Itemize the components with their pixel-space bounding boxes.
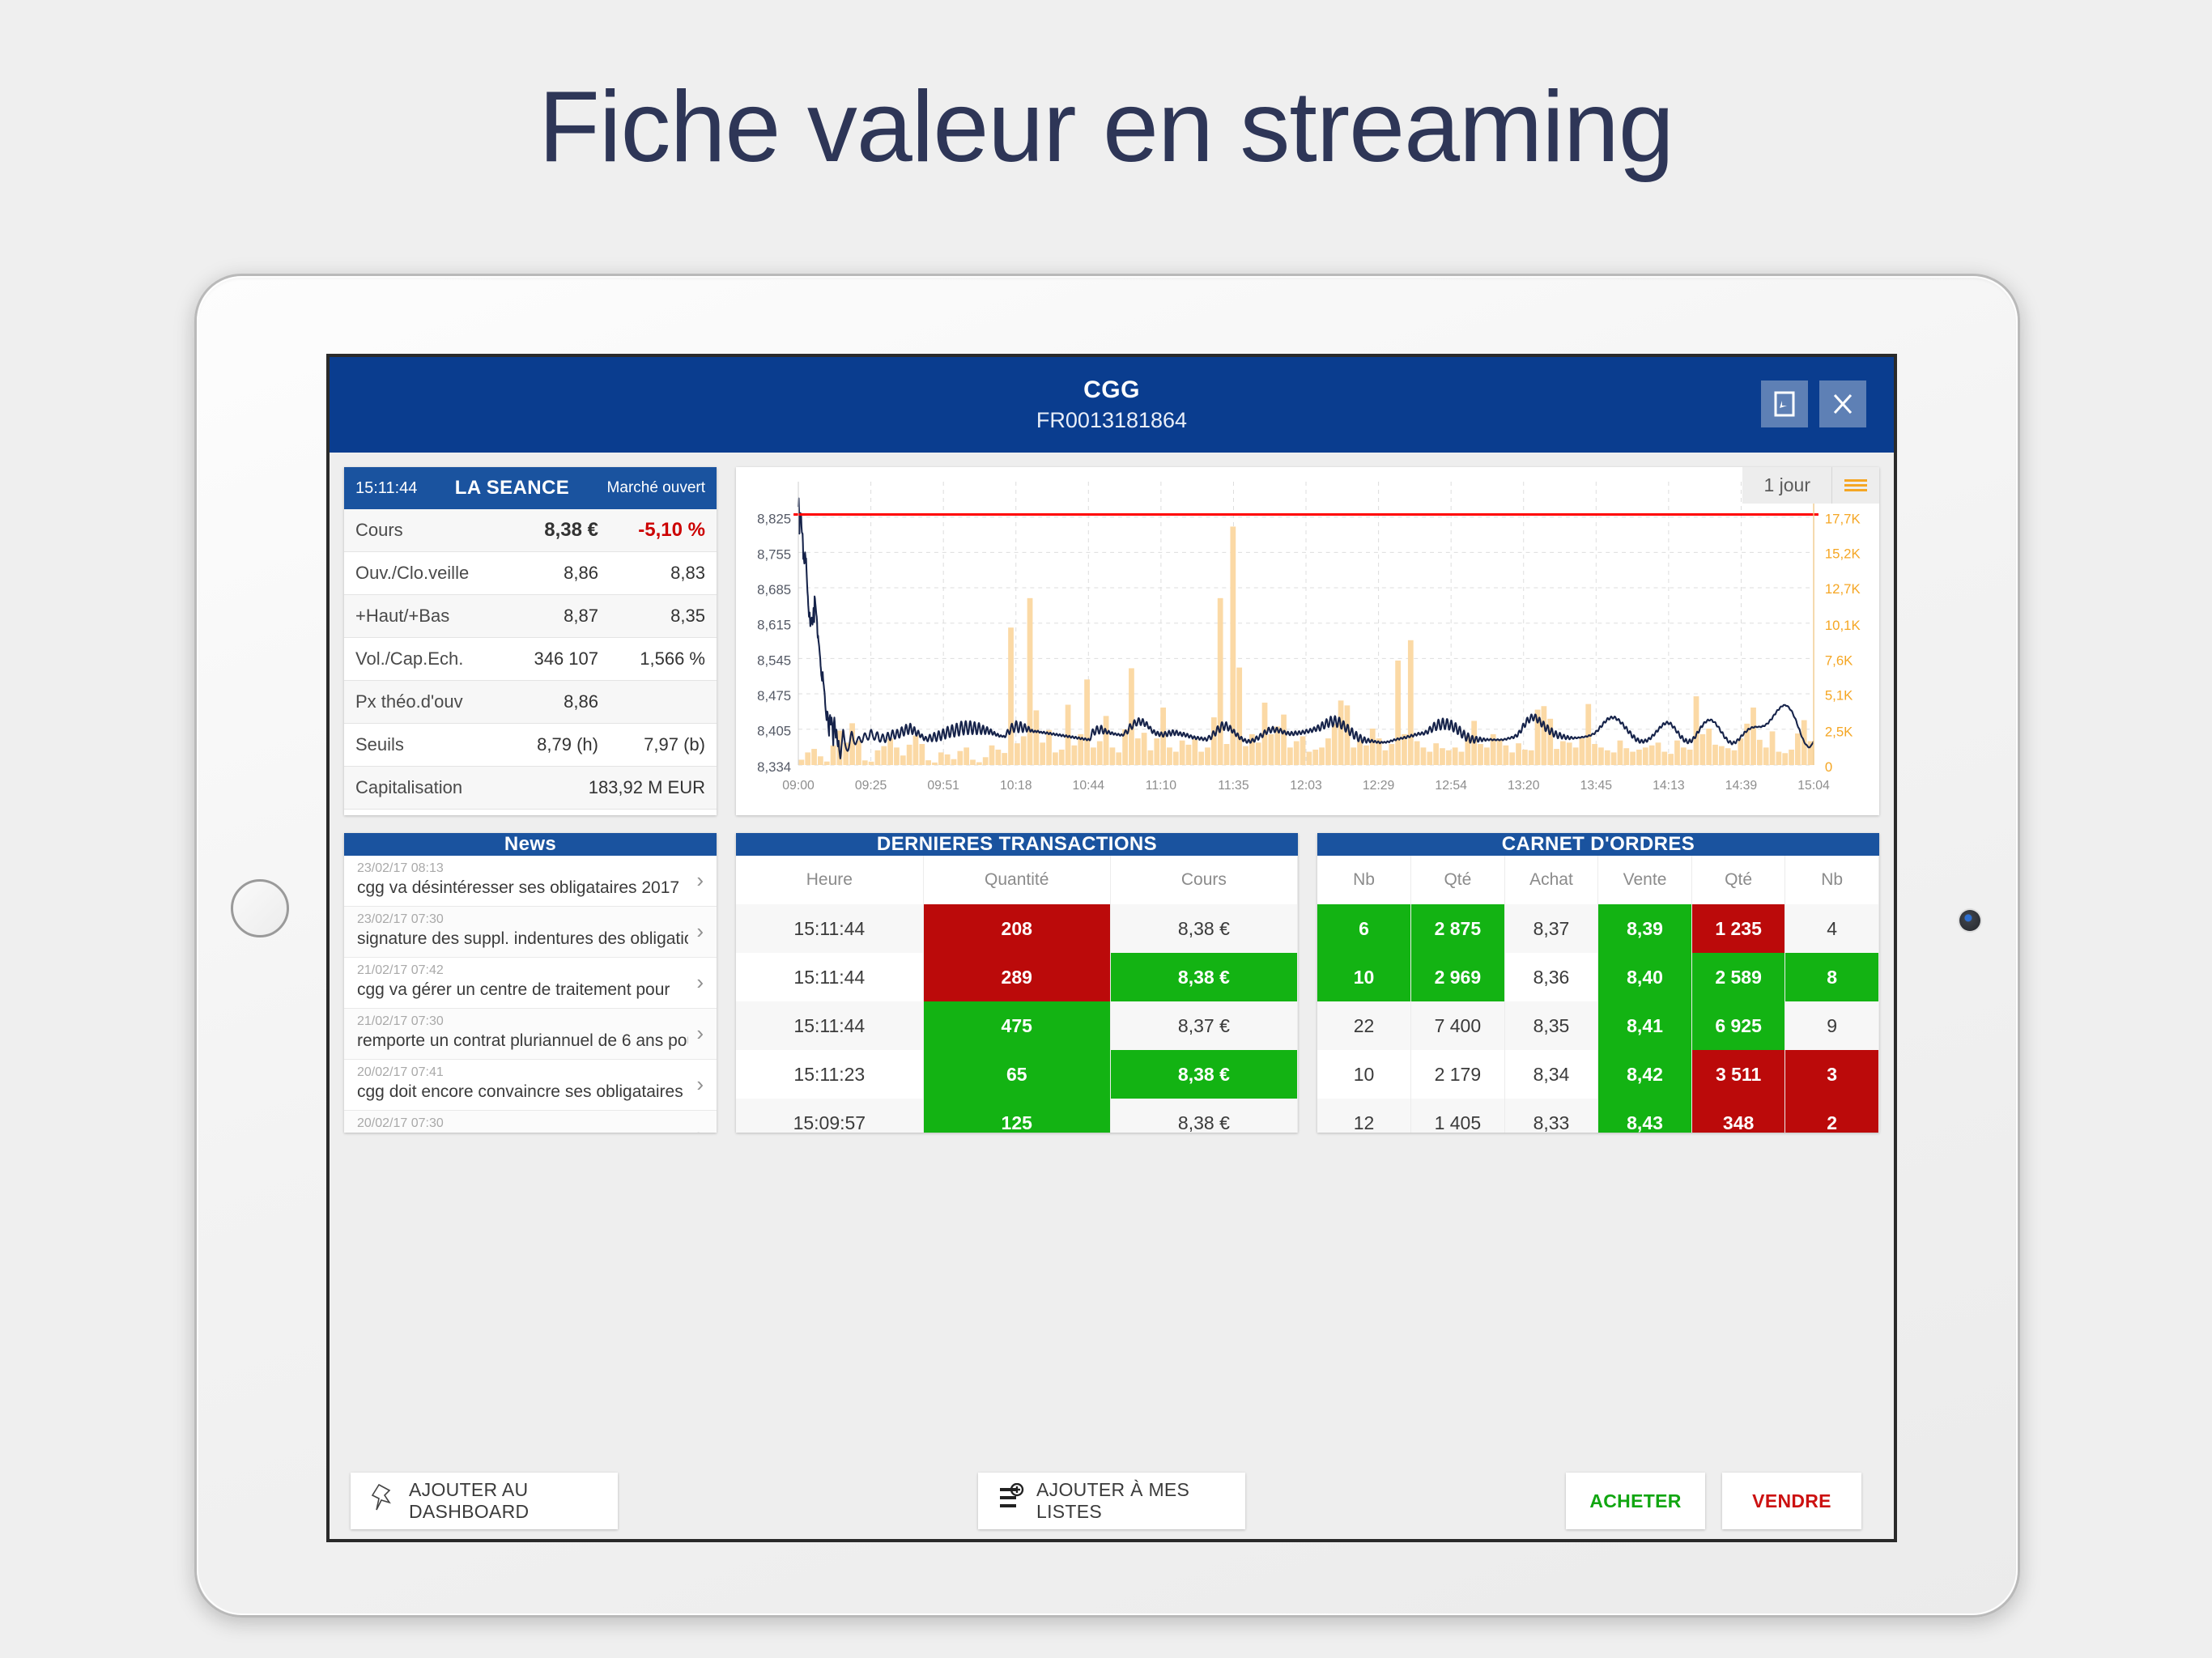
- svg-text:8,405: 8,405: [757, 724, 791, 739]
- svg-text:15,2K: 15,2K: [1825, 546, 1861, 562]
- news-item-date: 23/02/17 08:13: [357, 861, 688, 877]
- action-bar: AJOUTER AU DASHBOARD AJOUTER À ME: [344, 1473, 1879, 1529]
- table-cell: 10: [1317, 1050, 1411, 1099]
- news-item-texts: 20/02/17 07:30Cgg annonce avoir reCu l'a…: [357, 1116, 688, 1133]
- chevron-right-icon[interactable]: ›: [696, 868, 704, 893]
- table-cell: 4: [1785, 904, 1879, 953]
- transactions-column-header: Quantité: [923, 856, 1110, 904]
- chart-range-selector[interactable]: 1 jour: [1742, 467, 1832, 504]
- table-cell: 8: [1785, 953, 1879, 1001]
- svg-text:11:10: 11:10: [1146, 779, 1176, 793]
- table-cell: 12: [1317, 1099, 1411, 1133]
- window-content: 15:11:44 LA SEANCE Marché ouvert Cours8,…: [330, 453, 1894, 1542]
- svg-text:09:25: 09:25: [855, 779, 887, 793]
- svg-text:14:39: 14:39: [1725, 779, 1758, 793]
- svg-text:12:29: 12:29: [1363, 779, 1395, 793]
- orderbook-column-header: Qté: [1411, 856, 1505, 904]
- orderbook-column-header: Nb: [1317, 856, 1411, 904]
- seance-row-label: Px théo.d'ouv: [355, 691, 485, 712]
- table-row: 15:09:571258,38 €: [736, 1099, 1298, 1133]
- news-item-texts: 23/02/17 07:30signature des suppl. inden…: [357, 912, 688, 950]
- seance-panel: 15:11:44 LA SEANCE Marché ouvert Cours8,…: [344, 467, 717, 815]
- table-cell: 1 235: [1691, 904, 1785, 953]
- table-cell: 7 400: [1411, 1001, 1505, 1050]
- news-header: News: [344, 833, 717, 856]
- orderbook-column-header: Achat: [1504, 856, 1598, 904]
- orderbook-header: CARNET D'ORDRES: [1317, 833, 1879, 856]
- news-item-texts: 20/02/17 07:41cgg doit encore convaincre…: [357, 1065, 688, 1103]
- orderbook-body: 62 8758,378,391 2354102 9698,368,402 589…: [1317, 904, 1879, 1133]
- window-title: CGG: [1036, 376, 1187, 404]
- table-cell: 2 875: [1411, 904, 1505, 953]
- table-cell: 8,40: [1598, 953, 1692, 1001]
- news-item[interactable]: 21/02/17 07:30remporte un contrat pluria…: [344, 1009, 717, 1060]
- news-item-date: 21/02/17 07:42: [357, 963, 688, 979]
- svg-text:12:03: 12:03: [1290, 779, 1322, 793]
- table-cell: 22: [1317, 1001, 1411, 1050]
- svg-text:14:13: 14:13: [1653, 779, 1685, 793]
- seance-row-label: Seuils: [355, 734, 485, 755]
- svg-text:11:35: 11:35: [1218, 779, 1249, 793]
- top-row: 15:11:44 LA SEANCE Marché ouvert Cours8,…: [344, 467, 1879, 815]
- seance-row-value-2: 7,97 (b): [598, 734, 705, 755]
- price-chart-panel[interactable]: 1 jour 8,8258,7558,6858,6158,5458,4758,4…: [736, 467, 1879, 815]
- table-cell: 8,38 €: [1110, 904, 1297, 953]
- news-item-title: cgg va désintéresser ses obligataires 20…: [357, 877, 688, 899]
- table-cell: 65: [923, 1050, 1110, 1099]
- table-row: 15:11:23658,38 €: [736, 1050, 1298, 1099]
- table-cell: 8,38 €: [1110, 953, 1297, 1001]
- svg-text:17,7K: 17,7K: [1825, 511, 1861, 526]
- table-row: 102 9698,368,402 5898: [1317, 953, 1879, 1001]
- table-cell: 6: [1317, 904, 1411, 953]
- seance-row: Ouv./Clo.veille8,868,83: [344, 552, 717, 595]
- seance-row-value-1: 8,38 €: [485, 519, 598, 542]
- restore-window-icon[interactable]: [1761, 380, 1808, 427]
- news-item-date: 23/02/17 07:30: [357, 912, 688, 928]
- news-item[interactable]: 21/02/17 07:42cgg va gérer un centre de …: [344, 958, 717, 1009]
- news-item-date: 21/02/17 07:30: [357, 1014, 688, 1030]
- svg-text:8,755: 8,755: [757, 546, 791, 562]
- table-row: 121 4058,338,433482: [1317, 1099, 1879, 1133]
- seance-row-label: Ouv./Clo.veille: [355, 563, 485, 584]
- svg-text:8,615: 8,615: [757, 618, 791, 633]
- bottom-row: News 23/02/17 08:13cgg va désintéresser …: [344, 833, 1879, 1133]
- table-cell: 8,38 €: [1110, 1050, 1297, 1099]
- table-cell: 10: [1317, 953, 1411, 1001]
- table-cell: 475: [923, 1001, 1110, 1050]
- news-item-title: cgg va gérer un centre de traitement pou…: [357, 979, 688, 1001]
- seance-rows: Cours8,38 €-5,10 %Ouv./Clo.veille8,868,8…: [344, 509, 717, 810]
- table-cell: 8,41: [1598, 1001, 1692, 1050]
- news-item-date: 20/02/17 07:41: [357, 1065, 688, 1081]
- table-cell: 1 405: [1411, 1099, 1505, 1133]
- chevron-right-icon[interactable]: ›: [696, 919, 704, 944]
- svg-text:09:00: 09:00: [782, 779, 815, 793]
- table-cell: 8,38 €: [1110, 1099, 1297, 1133]
- orderbook-head-row: NbQtéAchatVenteQtéNb: [1317, 856, 1879, 904]
- add-to-lists-label: AJOUTER À MES LISTES: [1036, 1479, 1226, 1523]
- transactions-table: HeureQuantitéCours 15:11:442088,38 €15:1…: [736, 856, 1298, 1133]
- seance-row-label: +Haut/+Bas: [355, 606, 485, 627]
- table-cell: 3 511: [1691, 1050, 1785, 1099]
- seance-row-label: Vol./Cap.Ech.: [355, 648, 485, 670]
- svg-text:8,475: 8,475: [757, 688, 791, 704]
- chevron-right-icon[interactable]: ›: [696, 1072, 704, 1097]
- table-row: 102 1798,348,423 5113: [1317, 1050, 1879, 1099]
- seance-time: 15:11:44: [355, 479, 417, 498]
- close-icon[interactable]: [1819, 380, 1866, 427]
- news-item-texts: 21/02/17 07:42cgg va gérer un centre de …: [357, 963, 688, 1001]
- chevron-right-icon[interactable]: ›: [696, 970, 704, 995]
- seance-row-value-2: 8,83: [598, 563, 705, 584]
- hamburger-menu-icon[interactable]: [1832, 467, 1879, 504]
- svg-text:8,825: 8,825: [757, 512, 791, 527]
- page-title: Fiche valeur en streaming: [0, 77, 2212, 177]
- transactions-head-row: HeureQuantitéCours: [736, 856, 1298, 904]
- transactions-column-header: Heure: [736, 856, 923, 904]
- news-item-title: signature des suppl. indentures des obli…: [357, 928, 688, 950]
- home-button[interactable]: [231, 879, 289, 937]
- seance-row-value-2: -5,10 %: [598, 519, 705, 542]
- seance-row-label: Capitalisation: [355, 777, 462, 798]
- window-isin: FR0013181864: [1036, 408, 1187, 433]
- table-cell: 8,35: [1504, 1001, 1598, 1050]
- news-item-title: cgg doit encore convaincre ses obligatai…: [357, 1081, 688, 1103]
- table-row: 62 8758,378,391 2354: [1317, 904, 1879, 953]
- news-item[interactable]: 20/02/17 07:30Cgg annonce avoir reCu l'a…: [344, 1111, 717, 1133]
- table-cell: 8,43: [1598, 1099, 1692, 1133]
- seance-row: Vol./Cap.Ech.346 1071,566 %: [344, 638, 717, 681]
- table-cell: 8,33: [1504, 1099, 1598, 1133]
- svg-text:5,1K: 5,1K: [1825, 688, 1853, 704]
- svg-text:12,7K: 12,7K: [1825, 581, 1861, 597]
- seance-row-value-1: 8,79 (h): [485, 734, 598, 755]
- news-item-title: remporte un contrat pluriannuel de 6 ans…: [357, 1030, 688, 1052]
- seance-row: Seuils8,79 (h)7,97 (b): [344, 724, 717, 767]
- sell-button[interactable]: VENDRE: [1722, 1473, 1861, 1529]
- table-cell: 2 589: [1691, 953, 1785, 1001]
- svg-text:15:04: 15:04: [1797, 779, 1830, 793]
- table-cell: 2 969: [1411, 953, 1505, 1001]
- table-cell: 348: [1691, 1099, 1785, 1133]
- seance-row: Px théo.d'ouv8,86: [344, 681, 717, 724]
- seance-row-value-1: 8,87: [485, 606, 598, 627]
- svg-text:10:44: 10:44: [1073, 779, 1105, 793]
- table-cell: 289: [923, 953, 1110, 1001]
- table-cell: 2: [1785, 1099, 1879, 1133]
- table-cell: 6 925: [1691, 1001, 1785, 1050]
- news-item[interactable]: 23/02/17 08:13cgg va désintéresser ses o…: [344, 856, 717, 907]
- seance-row-value-1: 346 107: [485, 648, 598, 670]
- table-cell: 2 179: [1411, 1050, 1505, 1099]
- price-chart-svg: 8,8258,7558,6858,6158,5458,4758,4058,334…: [736, 467, 1879, 815]
- tablet-device: CGG FR0013181864: [194, 274, 2020, 1618]
- svg-text:12:54: 12:54: [1435, 779, 1467, 793]
- news-item-date: 20/02/17 07:30: [357, 1116, 688, 1132]
- seance-row: Capitalisation183,92 M EUR: [344, 767, 717, 810]
- transactions-header: DERNIERES TRANSACTIONS: [736, 833, 1298, 856]
- svg-text:8,545: 8,545: [757, 653, 791, 668]
- seance-row-value-2: 1,566 %: [598, 648, 705, 670]
- window-title-group: CGG FR0013181864: [1036, 376, 1187, 433]
- table-row: 15:11:442088,38 €: [736, 904, 1298, 953]
- news-item[interactable]: 20/02/17 07:41cgg doit encore convaincre…: [344, 1060, 717, 1111]
- news-item-texts: 23/02/17 08:13cgg va désintéresser ses o…: [357, 861, 688, 899]
- orderbook-column-header: Nb: [1785, 856, 1879, 904]
- table-cell: 8,34: [1504, 1050, 1598, 1099]
- table-cell: 15:11:44: [736, 953, 923, 1001]
- svg-text:7,6K: 7,6K: [1825, 653, 1853, 668]
- table-cell: 208: [923, 904, 1110, 953]
- table-row: 15:11:444758,37 €: [736, 1001, 1298, 1050]
- pin-icon: [370, 1482, 398, 1520]
- transactions-column-header: Cours: [1110, 856, 1297, 904]
- orderbook-column-header: Qté: [1691, 856, 1785, 904]
- table-cell: 9: [1785, 1001, 1879, 1050]
- svg-text:8,685: 8,685: [757, 582, 791, 597]
- table-cell: 8,42: [1598, 1050, 1692, 1099]
- table-row: 15:11:442898,38 €: [736, 953, 1298, 1001]
- svg-text:09:51: 09:51: [927, 779, 959, 793]
- chart-toolbar: 1 jour: [1742, 467, 1879, 504]
- seance-row: Cours8,38 €-5,10 %: [344, 509, 717, 552]
- buy-button[interactable]: ACHETER: [1566, 1473, 1705, 1529]
- table-cell: 15:11:44: [736, 1001, 923, 1050]
- seance-row-value-1: 8,86: [485, 563, 598, 584]
- svg-text:13:45: 13:45: [1580, 779, 1613, 793]
- add-to-dashboard-label: AJOUTER AU DASHBOARD: [409, 1479, 598, 1523]
- table-cell: 125: [923, 1099, 1110, 1133]
- transactions-panel: DERNIERES TRANSACTIONS HeureQuantitéCour…: [736, 833, 1298, 1133]
- add-to-lists-button[interactable]: AJOUTER À MES LISTES: [978, 1473, 1245, 1529]
- orderbook-column-header: Vente: [1598, 856, 1692, 904]
- seance-row: +Haut/+Bas8,878,35: [344, 595, 717, 638]
- svg-text:10:18: 10:18: [1000, 779, 1032, 793]
- seance-header: 15:11:44 LA SEANCE Marché ouvert: [344, 467, 717, 509]
- news-item-title: Cgg annonce avoir reCu l'accord de la ma…: [357, 1132, 688, 1133]
- table-cell: 3: [1785, 1050, 1879, 1099]
- seance-row-value-1: 8,86: [485, 691, 598, 712]
- svg-text:10,1K: 10,1K: [1825, 618, 1861, 633]
- table-cell: 8,39: [1598, 904, 1692, 953]
- chevron-right-icon[interactable]: ›: [696, 1021, 704, 1046]
- svg-text:13:20: 13:20: [1508, 779, 1540, 793]
- news-list: 23/02/17 08:13cgg va désintéresser ses o…: [344, 856, 717, 1133]
- chevron-right-icon[interactable]: ›: [696, 1123, 704, 1133]
- svg-text:8,334: 8,334: [757, 759, 791, 775]
- seance-row-value-2: 8,35: [598, 606, 705, 627]
- svg-text:0: 0: [1825, 759, 1832, 775]
- orderbook-panel: CARNET D'ORDRES NbQtéAchatVenteQtéNb 62 …: [1317, 833, 1879, 1133]
- news-panel: News 23/02/17 08:13cgg va désintéresser …: [344, 833, 717, 1133]
- svg-text:2,5K: 2,5K: [1825, 725, 1853, 740]
- table-cell: 8,37 €: [1110, 1001, 1297, 1050]
- orderbook-table: NbQtéAchatVenteQtéNb 62 8758,378,391 235…: [1317, 856, 1879, 1133]
- front-camera-icon: [1959, 910, 1980, 931]
- tablet-screen: CGG FR0013181864: [326, 354, 1897, 1542]
- window-titlebar: CGG FR0013181864: [330, 357, 1894, 453]
- table-cell: 8,37: [1504, 904, 1598, 953]
- table-cell: 15:11:44: [736, 904, 923, 953]
- seance-title: LA SEANCE: [417, 477, 606, 500]
- news-item-texts: 21/02/17 07:30remporte un contrat pluria…: [357, 1014, 688, 1052]
- table-row: 227 4008,358,416 9259: [1317, 1001, 1879, 1050]
- seance-row-label: Cours: [355, 520, 485, 541]
- seance-row-value-2: 183,92 M EUR: [545, 777, 706, 798]
- news-item[interactable]: 23/02/17 07:30signature des suppl. inden…: [344, 907, 717, 958]
- table-cell: 15:11:23: [736, 1050, 923, 1099]
- market-status: Marché ouvert: [607, 479, 705, 497]
- add-to-list-icon: [998, 1483, 1025, 1519]
- add-to-dashboard-button[interactable]: AJOUTER AU DASHBOARD: [351, 1473, 618, 1529]
- table-cell: 8,36: [1504, 953, 1598, 1001]
- table-cell: 15:09:57: [736, 1099, 923, 1133]
- transactions-body: 15:11:442088,38 €15:11:442898,38 €15:11:…: [736, 904, 1298, 1133]
